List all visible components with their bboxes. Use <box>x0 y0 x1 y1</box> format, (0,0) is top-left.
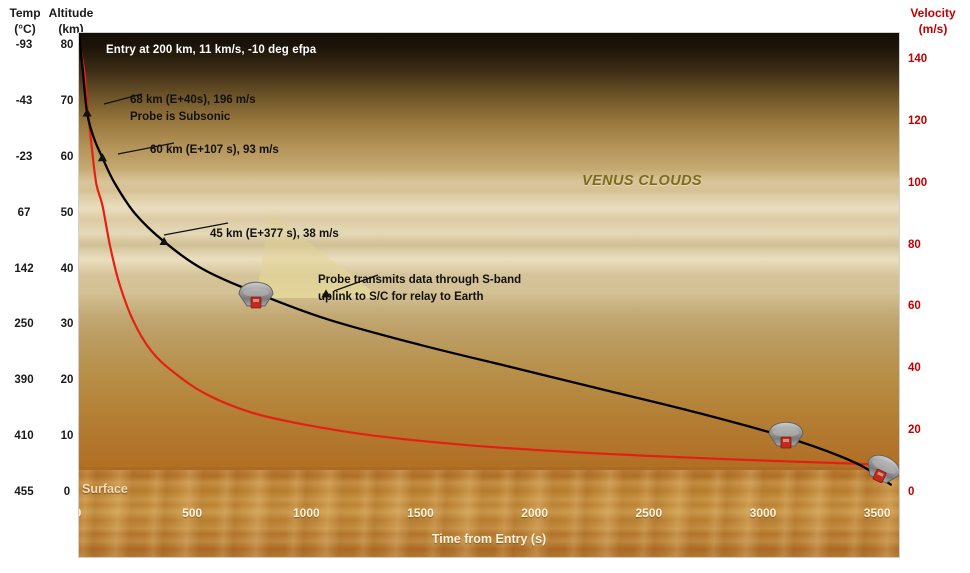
probe-glyph-1 <box>235 279 277 315</box>
probe-glyph-2 <box>765 419 807 455</box>
temp-tick-1: -43 <box>0 95 48 107</box>
temp-tick-6: 390 <box>0 374 48 386</box>
marker-triangle-1 <box>98 153 107 161</box>
annotation-uplink-line2: uplink to S/C for relay to Earth <box>318 289 521 306</box>
x-tick-1500: 1500 <box>407 506 434 520</box>
temp-axis-header: Temp (°C) <box>2 5 48 37</box>
velocity-tick-80: 80 <box>908 239 958 251</box>
temp-tick-0: -93 <box>0 39 48 51</box>
annotation-markers <box>83 108 331 297</box>
marker-triangle-0 <box>83 108 92 116</box>
velocity-axis-header-line2: (m/s) <box>898 21 968 37</box>
surface-label: Surface <box>82 482 128 496</box>
chart-figure: Temp (°C) Altitude (km) Velocity (m/s) -… <box>0 0 970 573</box>
annotation-subsonic: 68 km (E+40s), 196 m/s Probe is Subsonic <box>130 92 256 125</box>
annotation-entry-conditions: Entry at 200 km, 11 km/s, -10 deg efpa <box>106 42 316 59</box>
temp-tick-4: 142 <box>0 263 48 275</box>
temp-axis-header-line1: Temp <box>2 5 48 21</box>
annotation-uplink-line1: Probe transmits data through S-band <box>318 272 521 289</box>
velocity-tick-20: 20 <box>908 424 958 436</box>
temp-tick-8: 455 <box>0 486 48 498</box>
x-axis-title: Time from Entry (s) <box>432 532 546 546</box>
x-tick-3500: 3500 <box>864 506 891 520</box>
temp-tick-2: -23 <box>0 151 48 163</box>
annotation-60km: 60 km (E+107 s), 93 m/s <box>150 142 279 159</box>
x-tick-3000: 3000 <box>750 506 777 520</box>
annotation-subsonic-line2: Probe is Subsonic <box>130 109 256 126</box>
velocity-tick-40: 40 <box>908 362 958 374</box>
annotation-45km: 45 km (E+377 s), 38 m/s <box>210 226 339 243</box>
temp-tick-5: 250 <box>0 318 48 330</box>
x-tick-1000: 1000 <box>293 506 320 520</box>
x-tick-0: 0 <box>78 506 81 520</box>
plot-area: Entry at 200 km, 11 km/s, -10 deg efpa 6… <box>78 32 900 558</box>
altitude-axis-header-line1: Altitude <box>48 5 94 21</box>
temp-axis-header-line2: (°C) <box>2 21 48 37</box>
venus-clouds-label: VENUS CLOUDS <box>582 173 702 189</box>
x-tick-2000: 2000 <box>521 506 548 520</box>
velocity-tick-120: 120 <box>908 115 958 127</box>
velocity-tick-0: 0 <box>908 486 958 498</box>
temp-tick-7: 410 <box>0 430 48 442</box>
annotation-uplink: Probe transmits data through S-band upli… <box>318 272 521 305</box>
annotation-subsonic-line1: 68 km (E+40s), 196 m/s <box>130 92 256 109</box>
velocity-axis-header: Velocity (m/s) <box>898 5 968 37</box>
x-tick-500: 500 <box>182 506 202 520</box>
probe-aeroshell-icon-2 <box>765 419 807 455</box>
velocity-axis-header-line1: Velocity <box>898 5 968 21</box>
probe-aeroshell-icon-1 <box>235 279 277 315</box>
temp-tick-3: 67 <box>0 207 48 219</box>
x-tick-2500: 2500 <box>635 506 662 520</box>
velocity-tick-100: 100 <box>908 177 958 189</box>
velocity-tick-60: 60 <box>908 300 958 312</box>
velocity-tick-140: 140 <box>908 53 958 65</box>
